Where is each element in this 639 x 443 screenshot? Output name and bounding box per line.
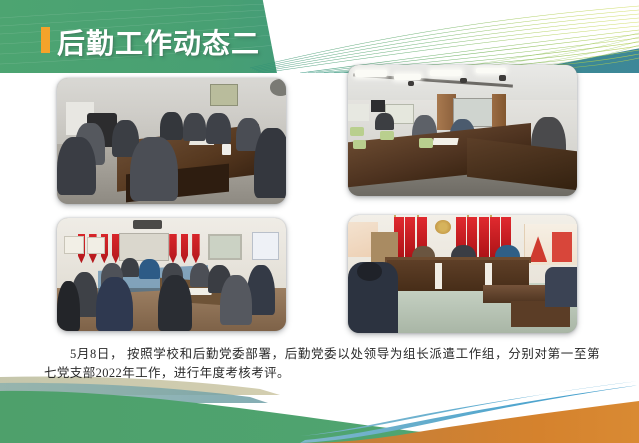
photo3-person: [121, 258, 139, 277]
photo2-person: [375, 113, 393, 130]
photo3-wall-frame: [87, 237, 105, 254]
photo3-wall-frame: [64, 236, 85, 254]
photo-panel-table-red-flags[interactable]: 红旗与党徽背景前三位评委坐于长桌后进行考评: [348, 215, 577, 333]
photo-meeting-room-bright-curtains[interactable]: 明亮会议室内两名人员低头记录，桌上摆放绿色水杯: [348, 65, 577, 196]
photo3-person: [220, 275, 252, 326]
photo3-person: [158, 275, 192, 332]
photo1-clock: [270, 79, 286, 95]
photo2-green-cup: [350, 127, 364, 136]
photo1-person: [206, 113, 231, 143]
photo2-ceiling-light: [476, 68, 506, 73]
photo2-spotlight: [499, 75, 506, 80]
slide-canvas: 后勤工作动态二 会议室内工作组成员围坐长条木桌开会: [0, 0, 639, 443]
photo2-curtain-right: [492, 94, 506, 129]
photo1-person: [130, 137, 178, 201]
photo2-green-cup: [380, 131, 394, 140]
photo1-cup: [222, 144, 231, 155]
photo4-attendee-right: [545, 267, 577, 307]
photo3-person: [96, 277, 133, 331]
photo3-person: [57, 281, 80, 331]
photo3-person: [139, 259, 160, 279]
photo2-papers: [432, 138, 459, 145]
photo2-ceiling-light: [355, 70, 387, 77]
page-title: 后勤工作动态二: [57, 22, 260, 62]
header-band: 后勤工作动态二: [0, 0, 639, 73]
body-paragraph: 5月8日， 按照学校和后勤党委部署，后勤党委以处领导为组长派遣工作组，分别对第一…: [44, 345, 600, 383]
photo3-notice-board: [252, 232, 279, 260]
photo2-ceiling-light: [394, 74, 421, 80]
photo4-desk-gap: [435, 263, 442, 289]
photo2-spotlight: [408, 81, 415, 86]
photo4-party-emblem: [435, 220, 451, 234]
photo1-person: [57, 137, 96, 195]
photo4-mural-red-block: [552, 232, 573, 263]
photo-meeting-room-red-flags-projector[interactable]: 挂有红色旗帜装饰与投影幕布的会议室，多人参加考核会: [57, 218, 286, 331]
photo2-spotlight: [460, 78, 467, 83]
photo1-person: [183, 113, 206, 141]
photo4-flag: [479, 217, 489, 257]
photo2-green-cup: [353, 140, 367, 149]
photo1-window: [210, 84, 237, 105]
photo3-window: [208, 234, 242, 260]
title-accent-bar: [41, 27, 50, 53]
photo3-projector-screen: [119, 233, 169, 261]
photo1-person: [254, 128, 286, 197]
photo1-person: [160, 112, 183, 140]
photo2-wall-board: [348, 104, 369, 121]
photo2-green-cup: [419, 138, 433, 147]
photo3-projector: [133, 220, 163, 229]
photo2-ceiling-light: [430, 70, 462, 76]
photo-meeting-room-grey-walls[interactable]: 会议室内工作组成员围坐长条木桌开会: [57, 78, 286, 204]
photo2-wall-monitor: [371, 100, 385, 112]
